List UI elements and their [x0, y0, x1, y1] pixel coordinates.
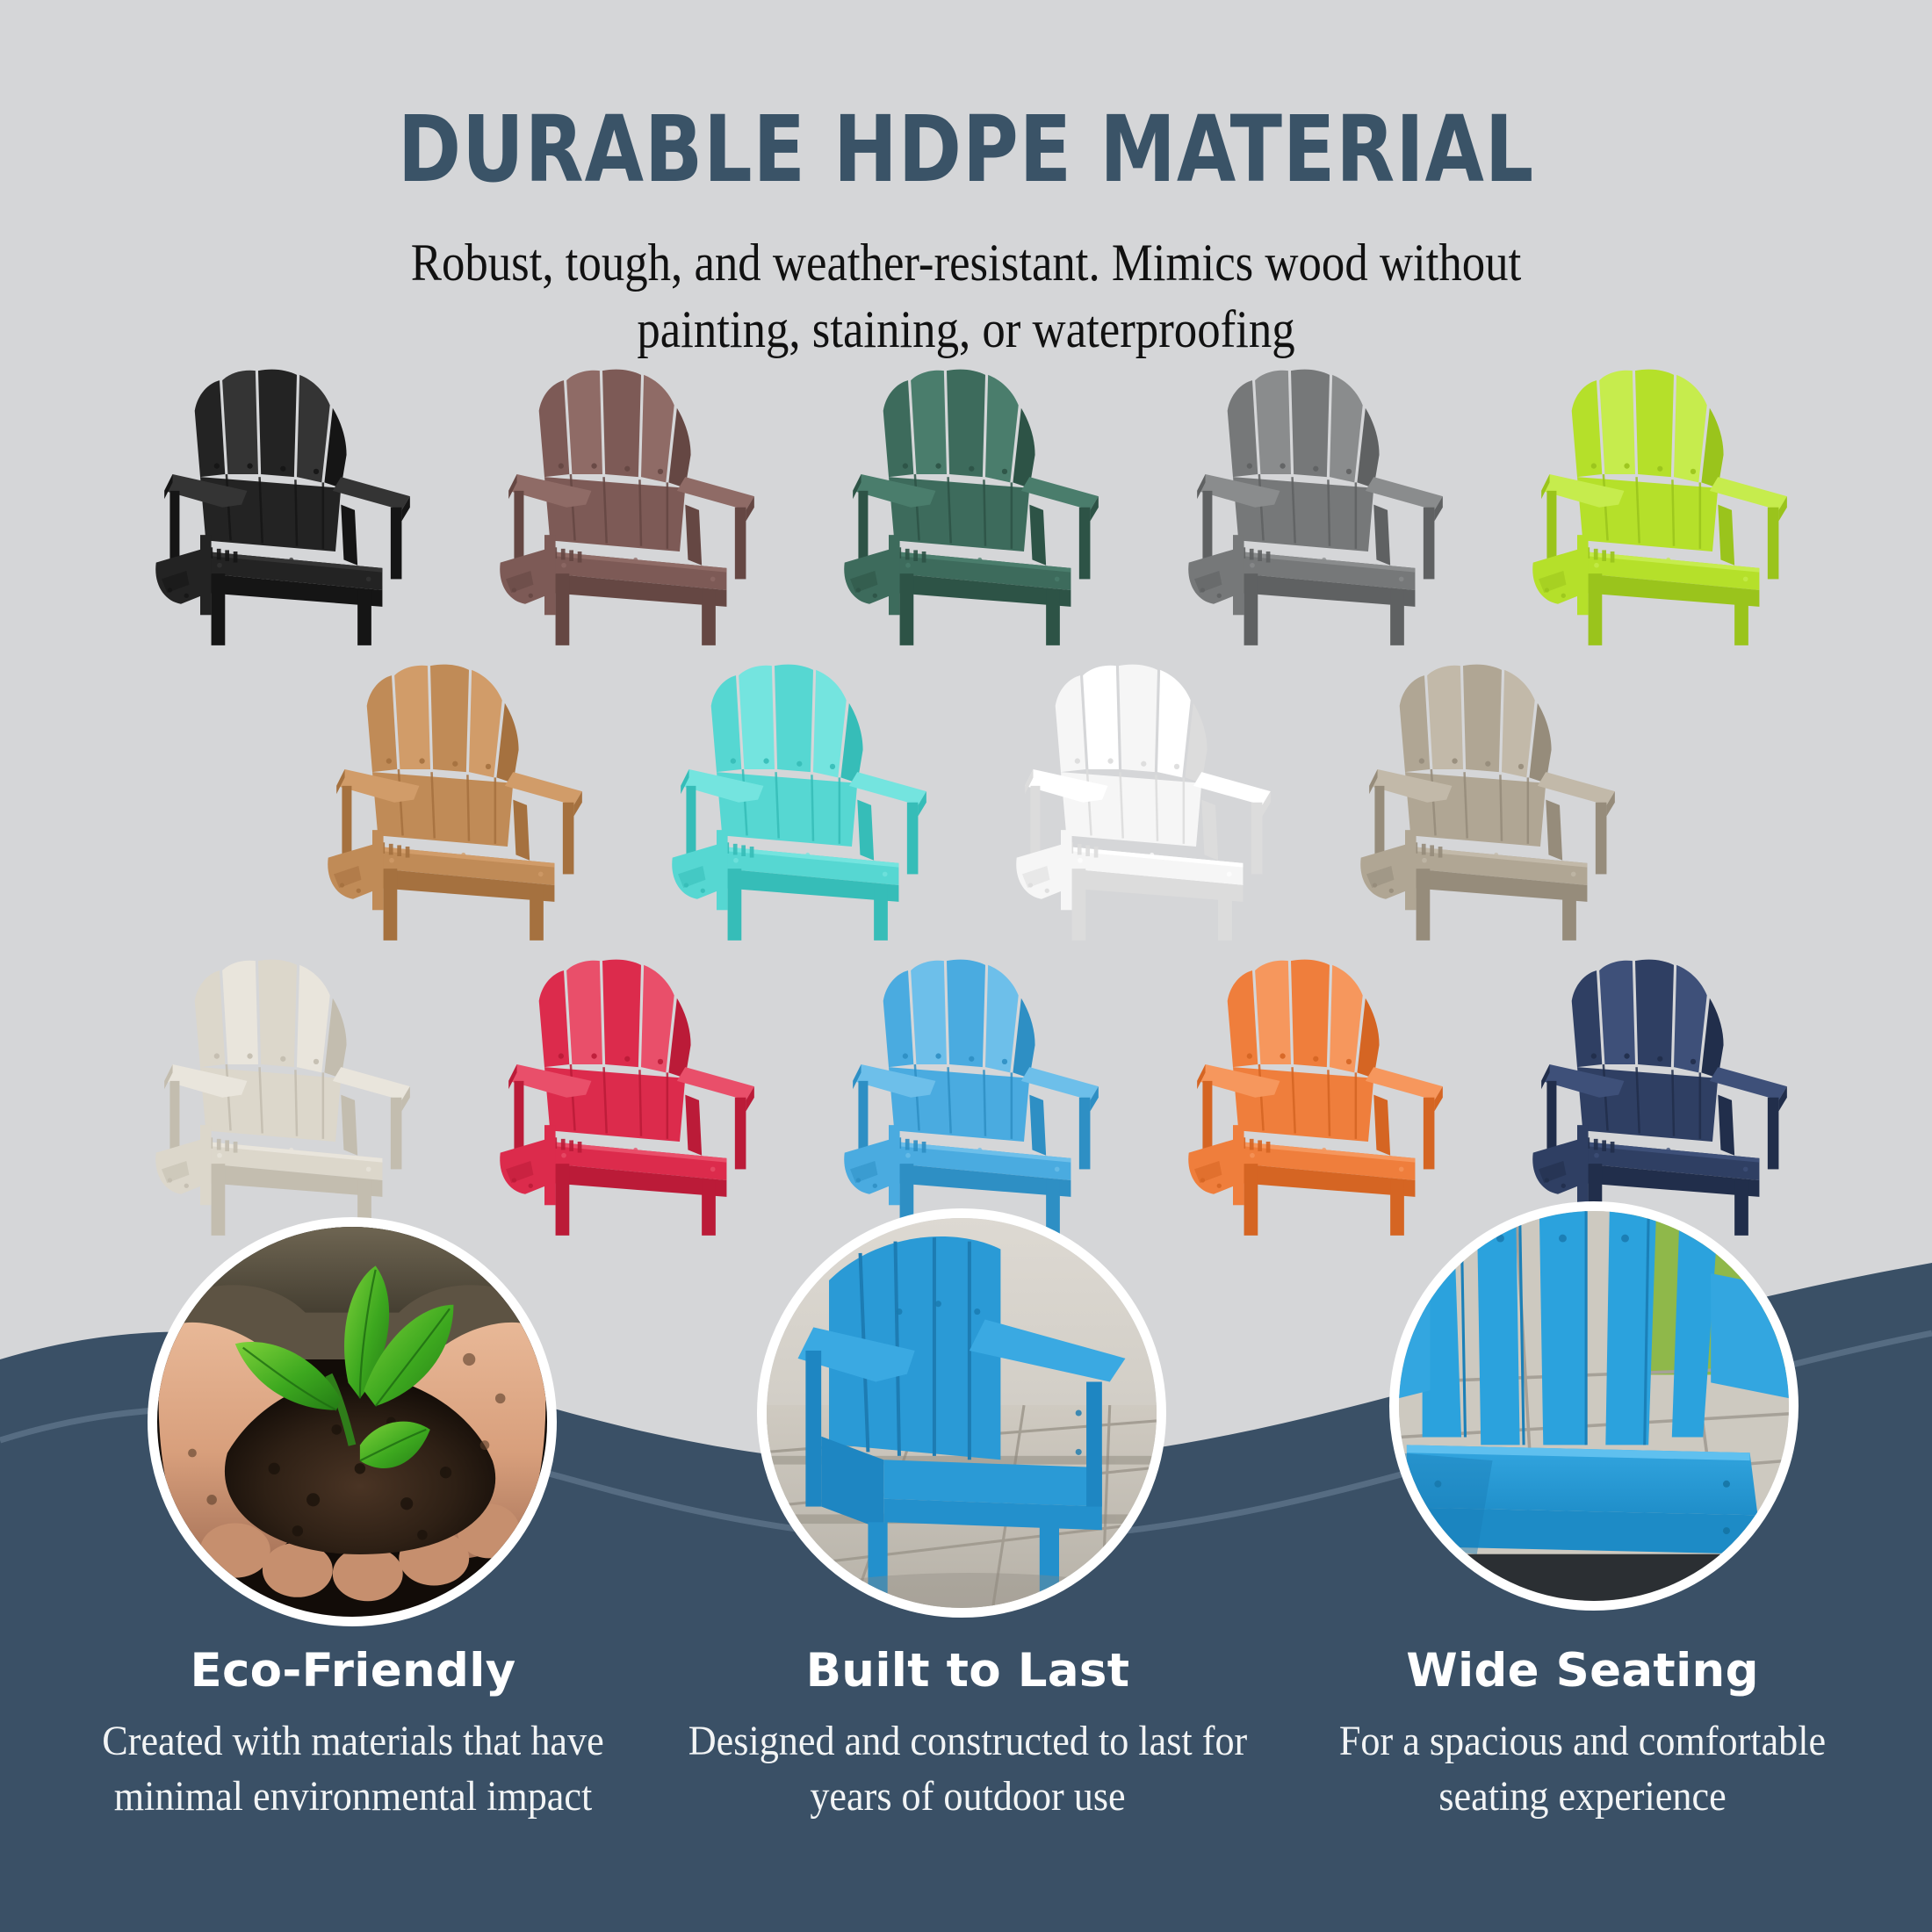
page-title: DURABLE HDPE MATERIAL	[68, 0, 1864, 195]
feature-captions: Eco-Friendly Created with materials that…	[0, 1644, 1932, 1890]
adirondack-chair-svg	[1337, 653, 1627, 943]
chair-row-1	[0, 358, 1932, 648]
chair-swatch-gray[interactable]	[1165, 358, 1455, 648]
chair-swatch-turquoise[interactable]	[649, 653, 939, 943]
adirondack-chair-svg	[649, 653, 939, 943]
adirondack-chair-svg	[1510, 948, 1799, 1238]
chair-swatch-red[interactable]	[477, 948, 767, 1238]
feature-caption-built-to-last: Built to Last Designed and constructed t…	[660, 1644, 1275, 1825]
feature-image-eco-friendly	[148, 1217, 557, 1626]
chair-swatch-hunter-green[interactable]	[821, 358, 1111, 648]
blue-adirondack-chair-on-patio-photo	[767, 1218, 1157, 1608]
feature-heading: Built to Last	[660, 1644, 1275, 1698]
adirondack-chair-svg	[305, 653, 595, 943]
adirondack-chair-svg	[133, 948, 422, 1238]
chair-color-grid	[0, 358, 1932, 1238]
chair-swatch-weathered-wood[interactable]	[1337, 653, 1627, 943]
hands-holding-seedling-photo	[157, 1227, 547, 1617]
adirondack-chair-svg	[821, 948, 1111, 1238]
feature-body: For a spacious and comfortable seating e…	[1300, 1713, 1865, 1825]
chair-swatch-orange[interactable]	[1165, 948, 1455, 1238]
feature-image-built-to-last	[757, 1208, 1166, 1618]
adirondack-chair-svg	[133, 358, 422, 648]
adirondack-chair-svg	[1165, 358, 1455, 648]
feature-image-row	[0, 1201, 1932, 1693]
adirondack-chair-svg	[993, 653, 1283, 943]
feature-body: Designed and constructed to last for yea…	[685, 1713, 1251, 1825]
chair-swatch-navy-blue[interactable]	[1510, 948, 1799, 1238]
blue-chair-wide-seat-closeup-photo	[1399, 1211, 1789, 1601]
feature-image-wide-seating	[1389, 1201, 1799, 1611]
feature-heading: Wide Seating	[1275, 1644, 1890, 1698]
feature-caption-wide-seating: Wide Seating For a spacious and comforta…	[1275, 1644, 1890, 1825]
feature-body: Created with materials that have minimal…	[70, 1713, 636, 1825]
chair-swatch-black[interactable]	[133, 358, 422, 648]
chair-row-3	[0, 948, 1932, 1238]
chair-swatch-ivory[interactable]	[133, 948, 422, 1238]
chair-swatch-white[interactable]	[993, 653, 1283, 943]
infographic-canvas: DURABLE HDPE MATERIAL Robust, tough, and…	[0, 0, 1932, 1932]
chair-swatch-teak[interactable]	[305, 653, 595, 943]
adirondack-chair-svg	[1510, 358, 1799, 648]
chair-swatch-light-blue[interactable]	[821, 948, 1111, 1238]
adirondack-chair-svg	[1165, 948, 1455, 1238]
adirondack-chair-svg	[477, 358, 767, 648]
page-subtitle: Robust, tough, and weather-resistant. Mi…	[364, 195, 1569, 363]
feature-heading: Eco-Friendly	[46, 1644, 660, 1698]
adirondack-chair-svg	[821, 358, 1111, 648]
feature-caption-eco-friendly: Eco-Friendly Created with materials that…	[46, 1644, 660, 1825]
adirondack-chair-svg	[477, 948, 767, 1238]
header-block: DURABLE HDPE MATERIAL Robust, tough, and…	[0, 0, 1932, 363]
chair-swatch-lime-green[interactable]	[1510, 358, 1799, 648]
chair-swatch-brown[interactable]	[477, 358, 767, 648]
chair-row-2	[0, 653, 1932, 943]
